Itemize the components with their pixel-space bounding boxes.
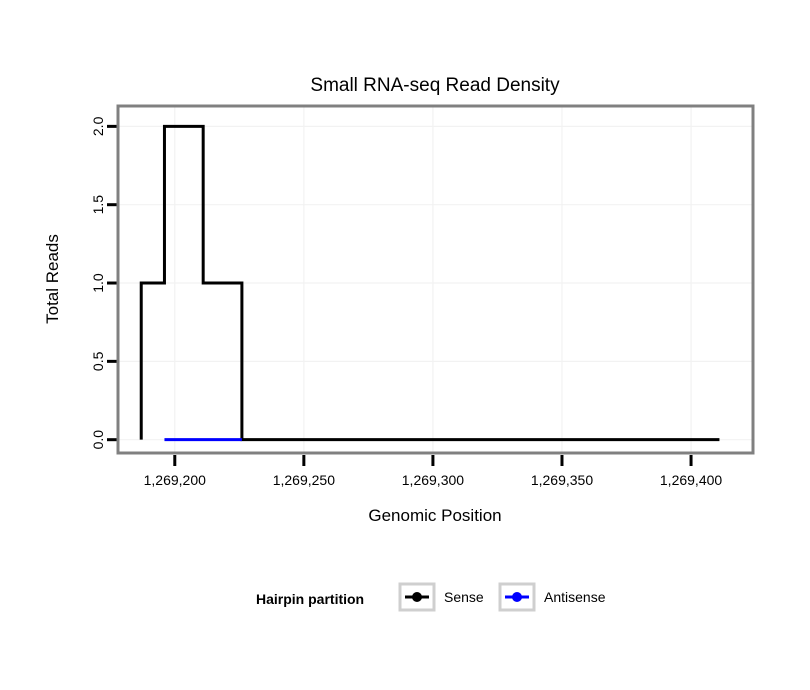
x-axis-tick-label: 1,269,300 <box>402 472 464 488</box>
y-axis-tick-label: 0.0 <box>90 430 106 450</box>
read-density-plot: Small RNA-seq Read Density 0.00.51.01.52… <box>0 0 810 690</box>
chart-title: Small RNA-seq Read Density <box>310 75 560 96</box>
plot-panel-background <box>118 106 753 453</box>
y-axis-title: Total Reads <box>43 234 62 324</box>
x-axis-tick-label: 1,269,350 <box>531 472 593 488</box>
x-axis-tick-label: 1,269,200 <box>144 472 206 488</box>
legend-title: Hairpin partition <box>256 591 364 607</box>
legend-entry-label: Sense <box>444 589 484 605</box>
legend-entry-antisense[interactable] <box>500 584 534 610</box>
y-axis-tick-label: 1.5 <box>90 195 106 215</box>
x-axis-title: Genomic Position <box>368 506 501 525</box>
y-axis-tick-label: 0.5 <box>90 351 106 371</box>
legend-key-point-icon <box>412 592 422 602</box>
x-axis-tick-label: 1,269,250 <box>273 472 335 488</box>
legend-entry-sense[interactable] <box>400 584 434 610</box>
y-axis-tick-label: 2.0 <box>90 116 106 136</box>
x-axis-tick-label: 1,269,400 <box>660 472 722 488</box>
legend-entry-label: Antisense <box>544 589 606 605</box>
legend-key-point-icon <box>512 592 522 602</box>
y-axis-tick-label: 1.0 <box>90 273 106 293</box>
chart-figure: Small RNA-seq Read Density 0.00.51.01.52… <box>0 0 810 690</box>
